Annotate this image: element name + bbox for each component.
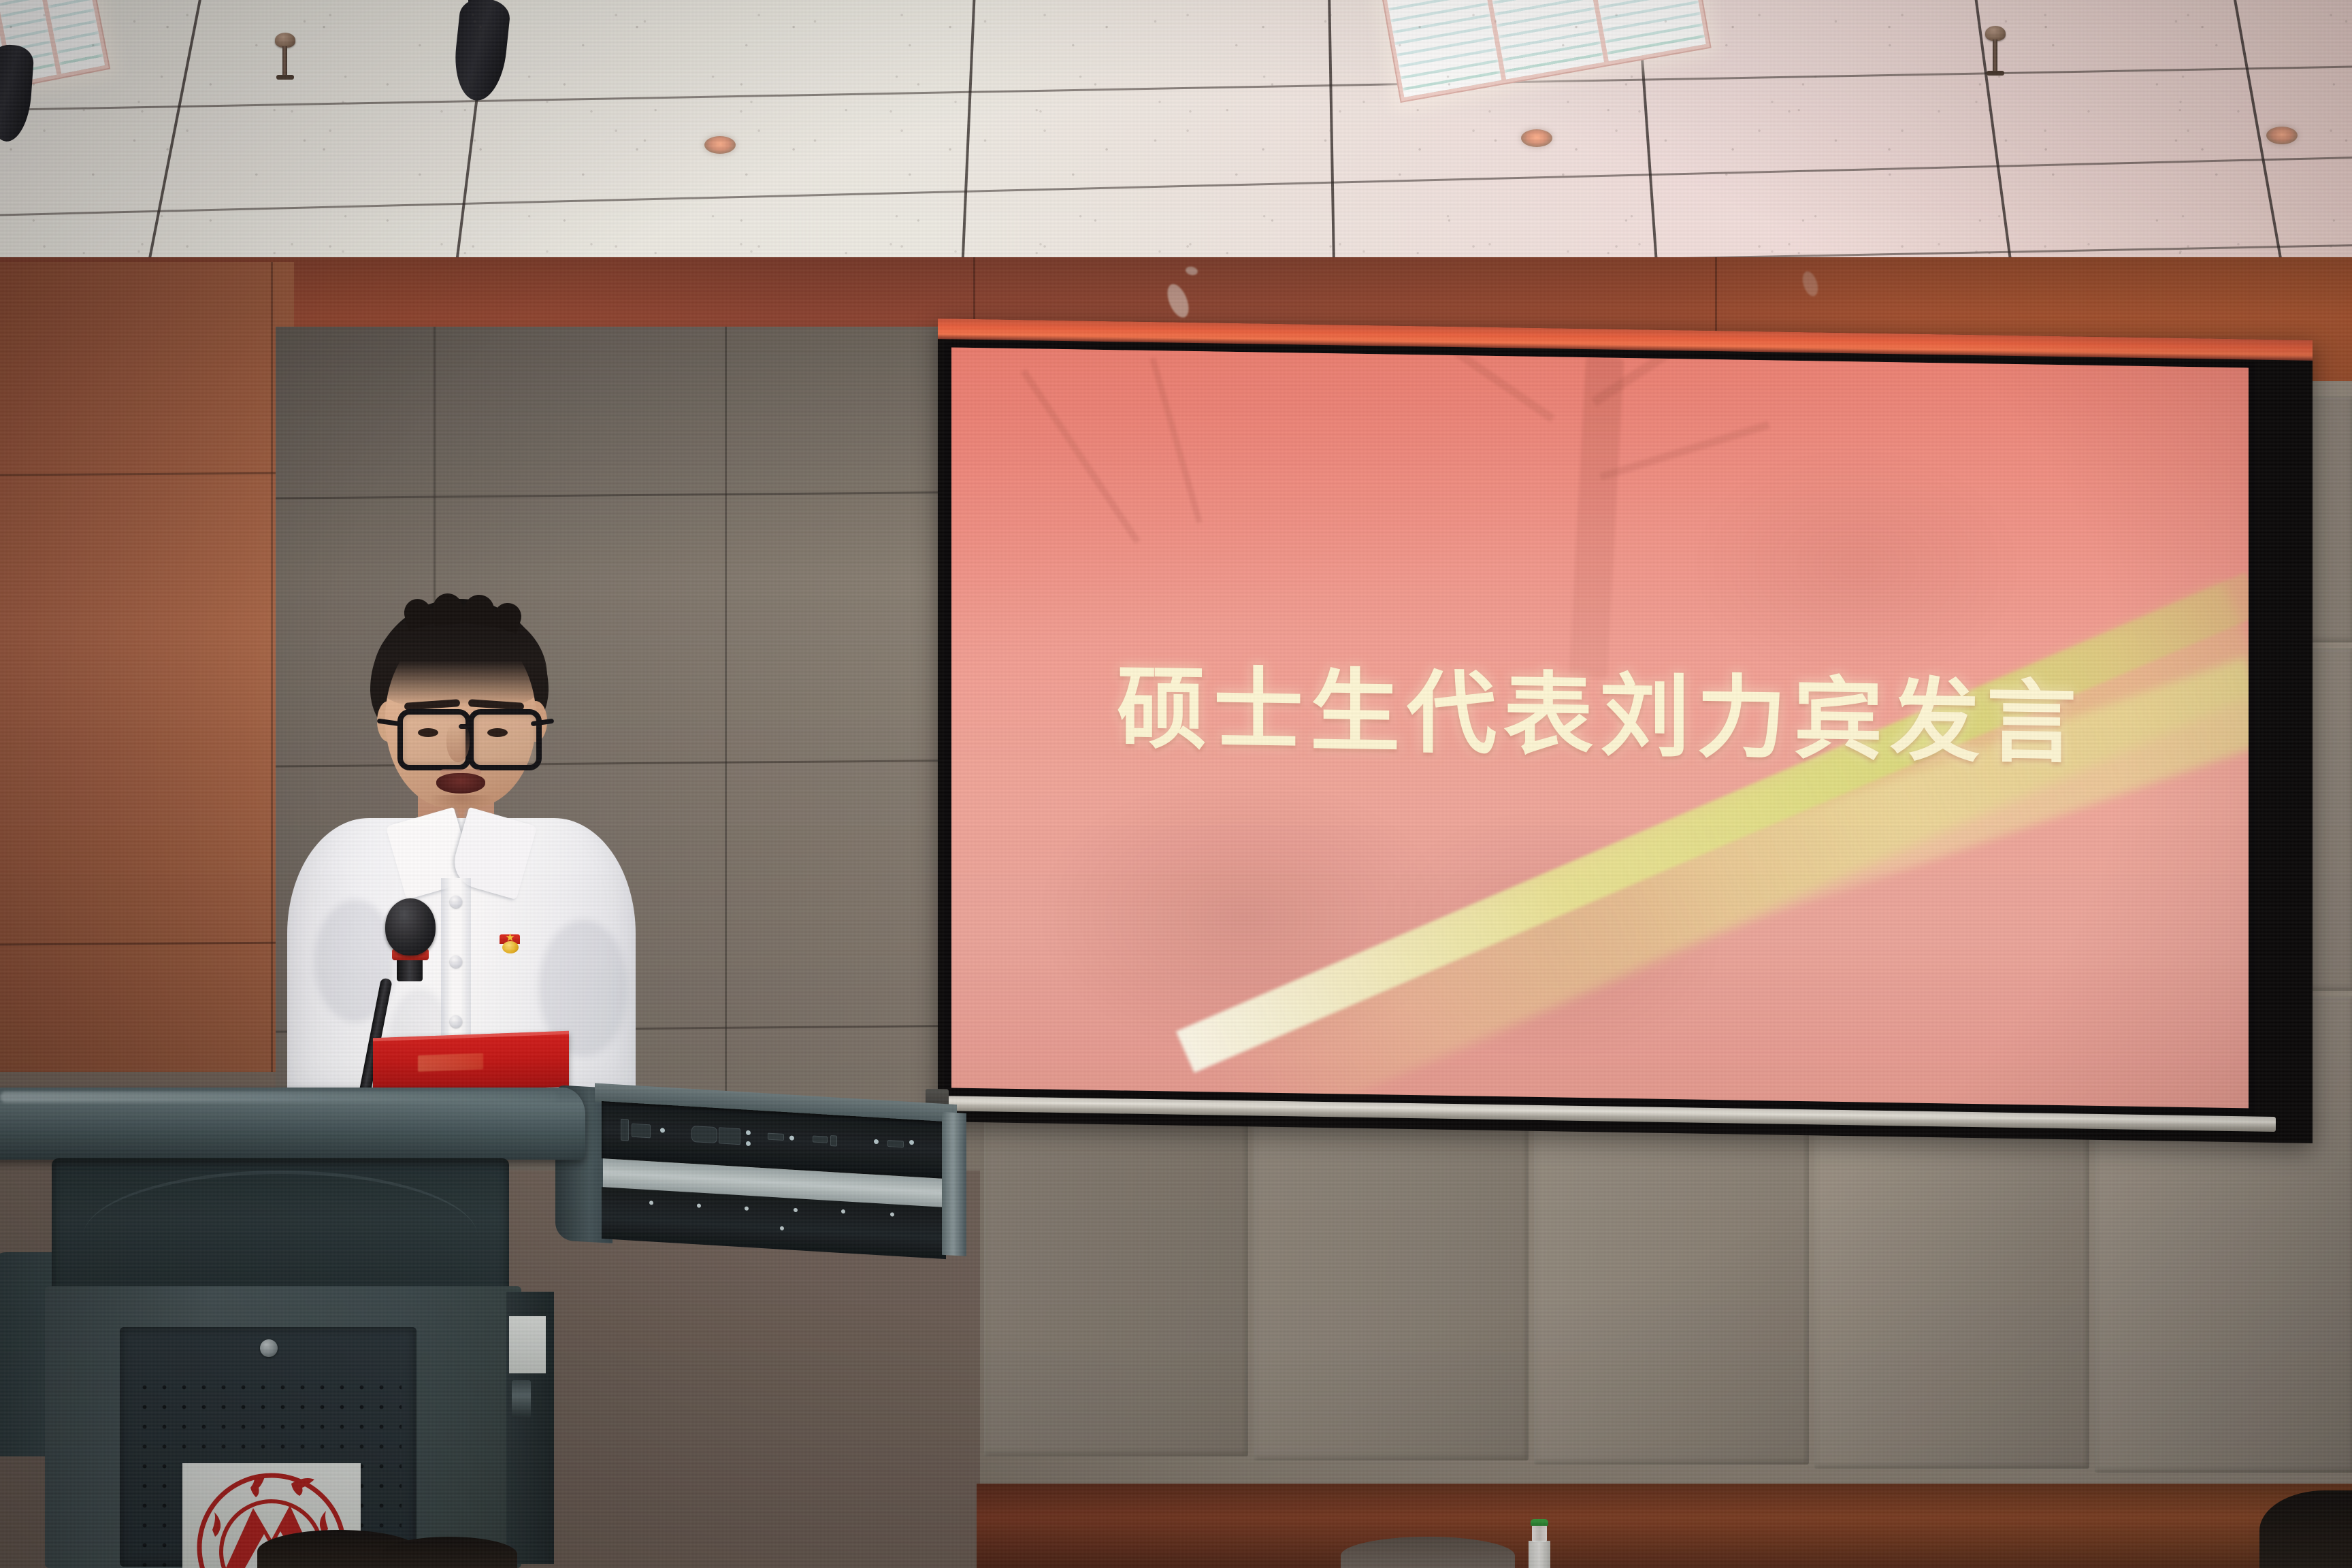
lectern-lock[interactable] [260, 1339, 278, 1357]
lectern-label-sticker [509, 1316, 546, 1373]
ceiling-grid-line [2232, 0, 2290, 279]
fluorescent-tube [44, 0, 105, 73]
bottle-body [1529, 1541, 1550, 1568]
fluorescent-troffer-right [1381, 0, 1711, 103]
nose [446, 723, 470, 762]
ceiling-grid-line [450, 0, 491, 279]
eye-left [418, 728, 438, 737]
folder-emboss [418, 1053, 483, 1072]
recessed-downlight-1 [704, 136, 736, 154]
recessed-downlight-3 [2266, 127, 2298, 144]
ceiling-grid-line [1636, 0, 1661, 279]
sprinkler-head-right [1984, 26, 2007, 80]
lapel-pin-badge [500, 933, 521, 953]
fluorescent-tube [0, 0, 9, 93]
fluorescent-tube [1386, 0, 1501, 97]
fluorescent-tube [1590, 0, 1705, 61]
sprinkler-head-left [274, 33, 297, 84]
pendant-speaker-left [449, 0, 512, 101]
audience-head [381, 1537, 517, 1568]
ceiling-grid-line [140, 0, 203, 279]
ceiling-grid-line [0, 65, 2352, 111]
bottle-neck [1532, 1524, 1547, 1542]
water-bottle [1528, 1519, 1551, 1568]
slide-title: 硕士生代表刘力宾发言 [951, 633, 2249, 783]
acoustic-tile-ceiling [0, 0, 2352, 279]
pull-down-projection-screen: 硕士生代表刘力宾发言 [938, 318, 2313, 1143]
lectern-top-highlight [0, 1092, 558, 1102]
conference-hall-photo: 硕士生代表刘力宾发言 [0, 0, 2352, 1568]
fluorescent-tube [1488, 0, 1603, 79]
red-speech-folder [373, 1031, 569, 1094]
av-control-rack[interactable] [595, 1083, 973, 1275]
fluorescent-tube [0, 0, 57, 83]
microphone-head[interactable] [385, 898, 436, 955]
pendant-speaker-far-left [0, 45, 41, 146]
terracotta-wall-panels [0, 262, 294, 1072]
ceiling-grid-line [1328, 0, 1336, 279]
chin-shadow [429, 795, 494, 813]
bottle-cap [1531, 1519, 1548, 1526]
mouth [436, 773, 485, 794]
eye-right [487, 728, 508, 737]
lectern-recess [52, 1158, 509, 1292]
glasses-lens-right [468, 709, 542, 770]
recessed-downlight-2 [1521, 129, 1552, 147]
fluorescent-troffer-left [0, 0, 110, 98]
wood-baseboard [977, 1484, 2352, 1568]
screen-surface: 硕士生代表刘力宾发言 [951, 347, 2249, 1108]
ceiling-grid-line [0, 156, 2352, 217]
av-rack-end-cap [942, 1112, 966, 1256]
microphone-body [397, 957, 423, 981]
ceiling-grid-line [960, 0, 976, 279]
screen-frame: 硕士生代表刘力宾发言 [945, 342, 2255, 1115]
ceiling-grid-line [1973, 0, 2017, 279]
lectern-latch[interactable] [512, 1380, 531, 1418]
